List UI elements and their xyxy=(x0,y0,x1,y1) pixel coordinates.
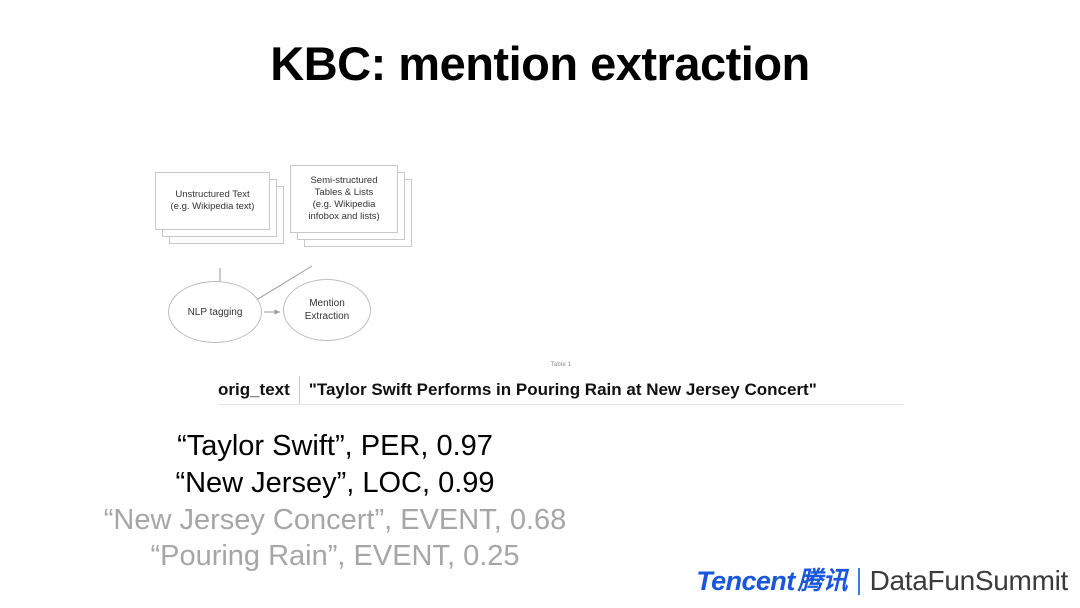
document-stack-semi-structured: Semi-structured Tables & Lists (e.g. Wik… xyxy=(290,165,415,257)
tencent-wordmark-chinese: 腾讯 xyxy=(798,569,848,594)
unstructured-text-line-1: Unstructured Text xyxy=(171,189,255,201)
logo-separator xyxy=(858,568,860,595)
table-caption: Table 1 xyxy=(218,362,904,368)
table-row: orig_text "Taylor Swift Performs in Pour… xyxy=(218,376,904,405)
list-item: “New Jersey”, LOC, 0.99 xyxy=(35,465,635,502)
semi-structured-line-1: Semi-structured xyxy=(308,175,379,187)
node-nlp-tagging: NLP tagging xyxy=(168,281,262,343)
stack-sheet-front: Semi-structured Tables & Lists (e.g. Wik… xyxy=(290,165,398,233)
semi-structured-line-3: (e.g. Wikipedia xyxy=(308,199,379,211)
list-item: “Pouring Rain”, EVENT, 0.25 xyxy=(35,538,635,575)
pipeline-diagram: Unstructured Text (e.g. Wikipedia text) … xyxy=(140,160,440,350)
table-key-orig-text: orig_text xyxy=(218,380,299,400)
node-nlp-tagging-label: NLP tagging xyxy=(188,306,243,319)
node-mention-extraction: Mention Extraction xyxy=(283,279,371,341)
semi-structured-line-2: Tables & Lists xyxy=(308,187,379,199)
stack-sheet-front: Unstructured Text (e.g. Wikipedia text) xyxy=(155,172,270,230)
mention-list: “Taylor Swift”, PER, 0.97 “New Jersey”, … xyxy=(35,428,635,575)
list-item: “New Jersey Concert”, EVENT, 0.68 xyxy=(35,502,635,539)
unstructured-text-line-2: (e.g. Wikipedia text) xyxy=(171,201,255,213)
semi-structured-line-4: infobox and lists) xyxy=(308,211,379,223)
table-value-orig-text: "Taylor Swift Performs in Pouring Rain a… xyxy=(300,380,817,400)
datafunsummit-wordmark: DataFunSummit xyxy=(870,567,1068,595)
tencent-wordmark: Tencent xyxy=(696,568,794,595)
document-stack-unstructured-text: Unstructured Text (e.g. Wikipedia text) xyxy=(155,172,285,254)
node-mention-extraction-line-1: Mention xyxy=(305,297,349,310)
node-mention-extraction-line-2: Extraction xyxy=(305,310,349,323)
list-item: “Taylor Swift”, PER, 0.97 xyxy=(35,428,635,465)
page-title: KBC: mention extraction xyxy=(0,38,1080,90)
footer-logo: Tencent 腾讯 DataFunSummit xyxy=(696,564,1068,598)
